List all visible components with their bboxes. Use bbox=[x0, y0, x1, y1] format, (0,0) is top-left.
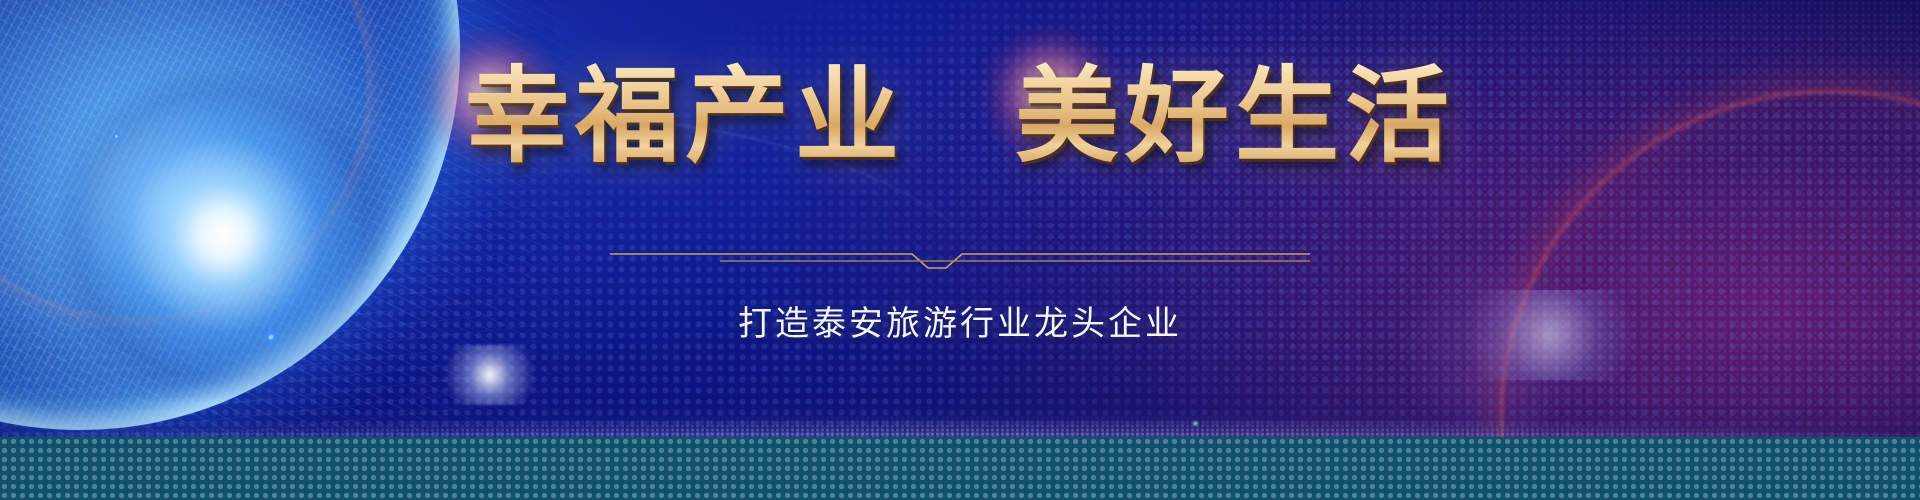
divider bbox=[0, 238, 1920, 274]
divider-v-notch-icon bbox=[610, 238, 1310, 274]
banner-subheadline: 打造泰安旅游行业龙头企业 bbox=[0, 296, 1920, 345]
banner-headline: 幸福产业 美好生活 bbox=[0, 62, 1920, 172]
hero-banner: 幸福产业 美好生活 打造泰安旅游行业龙头企业 bbox=[0, 0, 1920, 500]
bottom-teal-band bbox=[0, 437, 1920, 500]
city-glow-left-decor bbox=[430, 345, 550, 405]
